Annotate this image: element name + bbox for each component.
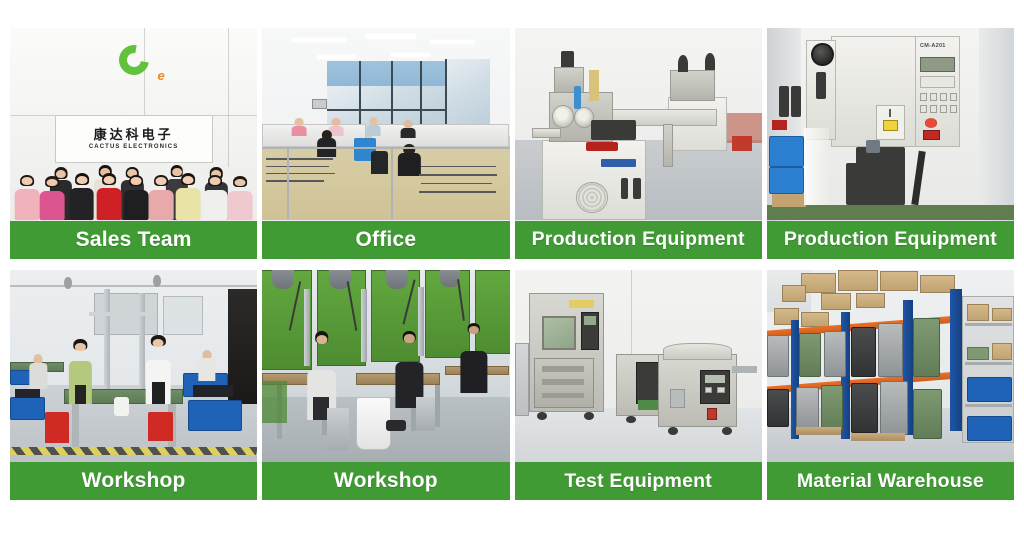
person <box>228 175 253 220</box>
facility-gallery-grid: e 康达科电子 CACTUS ELECTRONICS <box>10 28 1014 500</box>
person <box>30 354 47 389</box>
cabinet-slot <box>621 178 628 199</box>
rail-post <box>391 147 393 220</box>
carton-box <box>821 293 851 310</box>
frame-crossbar <box>89 312 153 316</box>
carton-box <box>967 304 989 321</box>
tool <box>791 86 801 117</box>
door-louver <box>542 366 584 372</box>
person <box>203 174 228 221</box>
carton-box <box>782 285 807 302</box>
photo-workshop-2 <box>262 270 509 463</box>
metal-stool <box>416 397 436 432</box>
caption-workshop-2: Workshop <box>262 462 509 500</box>
controller-display <box>920 57 955 72</box>
cutting-head <box>591 120 636 139</box>
gallery-cell-production-equipment-1[interactable]: Production Equipment <box>515 28 762 259</box>
gallery-cell-production-equipment-2[interactable]: CM-A201 <box>767 28 1014 259</box>
person <box>146 335 171 404</box>
blue-bin <box>10 397 45 420</box>
controller-readout <box>920 76 955 88</box>
tester-button[interactable] <box>717 387 724 393</box>
ceiling-light <box>292 38 346 43</box>
photo-sales-team: e 康达科电子 CACTUS ELECTRONICS <box>10 28 257 221</box>
machine-base <box>262 381 287 423</box>
caster-wheel <box>668 427 678 435</box>
chamber-display <box>584 316 596 326</box>
person <box>15 174 40 221</box>
clamp <box>866 140 881 153</box>
warning-plate <box>876 105 906 140</box>
caster-wheel <box>584 412 594 420</box>
blue-bottle <box>574 86 581 109</box>
person <box>198 350 215 381</box>
wire-reel-stack <box>913 318 940 378</box>
cactus-logo-icon: e <box>119 45 163 85</box>
feed-rail <box>532 128 562 138</box>
controller-button[interactable] <box>950 105 957 113</box>
carton-box <box>838 270 878 291</box>
photo-material-warehouse <box>767 270 1014 463</box>
photo-office <box>262 28 509 221</box>
railing <box>262 147 509 149</box>
person <box>69 172 94 220</box>
spool <box>589 70 599 101</box>
wire-reel-stack <box>824 331 846 377</box>
wire-reel-stack <box>880 381 907 435</box>
tool <box>779 86 789 117</box>
floor-hazard-line <box>10 447 257 455</box>
red-stool <box>45 412 70 443</box>
parts-on-floor <box>386 420 406 432</box>
handle <box>816 72 826 99</box>
person <box>148 174 173 221</box>
gallery-cell-workshop-1[interactable]: Workshop <box>10 270 257 501</box>
green-box <box>967 347 989 360</box>
frame-post <box>139 293 145 401</box>
pressure-gauge-icon <box>811 43 833 66</box>
controller-button[interactable] <box>930 105 937 113</box>
side-wall-right <box>979 28 1014 221</box>
brand-label <box>601 159 636 167</box>
conveyor-leg <box>663 124 673 166</box>
person <box>292 118 307 135</box>
ceiling-light <box>317 55 357 59</box>
logo-letter-e: e <box>158 68 165 83</box>
floor-mat <box>767 205 1014 220</box>
wire-reel-stack <box>796 387 818 429</box>
carton-box <box>856 293 886 308</box>
person <box>176 172 201 220</box>
photo-workshop-1 <box>10 270 257 463</box>
machine-column <box>361 289 367 362</box>
wire-reel-stack <box>913 389 943 439</box>
photo-production-equipment-2: CM-A201 <box>767 28 1014 221</box>
rack-upright <box>950 289 962 431</box>
caption-test-equipment: Test Equipment <box>515 462 762 500</box>
shelf-level <box>965 323 1012 326</box>
tester-power-indicator <box>707 408 717 420</box>
controller-button[interactable] <box>940 93 947 101</box>
blue-crate <box>769 136 804 167</box>
gallery-cell-office[interactable]: Office <box>262 28 509 259</box>
ceiling-rail <box>10 285 257 287</box>
blue-tote <box>967 377 1012 402</box>
pallet <box>851 433 905 441</box>
wire-reel-stack <box>767 335 789 377</box>
staff-group <box>10 147 257 220</box>
ceiling-light <box>366 34 415 39</box>
pallet <box>796 427 841 435</box>
ceiling-fan <box>64 277 71 289</box>
vent-grille <box>576 182 608 213</box>
cubicle-partition <box>262 124 366 147</box>
hopper <box>386 270 408 289</box>
tester-display <box>705 375 725 383</box>
parts-pile <box>193 385 233 397</box>
person <box>460 323 487 392</box>
wire-reel-stack <box>799 333 821 377</box>
door-louver <box>542 379 584 385</box>
ceiling-light <box>430 40 475 45</box>
ceiling-fan <box>153 275 160 287</box>
person <box>401 120 416 137</box>
metal-stool <box>327 408 349 450</box>
ceiling-light <box>391 53 431 57</box>
table-leg <box>435 385 440 427</box>
gallery-cell-material-warehouse[interactable]: Material Warehouse <box>767 270 1014 501</box>
person <box>97 172 122 220</box>
wall-seam-right <box>228 28 230 167</box>
white-container <box>114 397 129 416</box>
pallet <box>772 194 807 207</box>
window-transom <box>327 109 446 111</box>
gallery-cell-workshop-2[interactable]: Workshop <box>262 270 509 501</box>
carton-box <box>992 343 1012 360</box>
caption-production-equipment-2: Production Equipment <box>767 221 1014 259</box>
desk-slats <box>416 163 505 202</box>
wire-reel-stack <box>767 389 789 428</box>
tester-access-panel <box>670 389 685 408</box>
person <box>366 117 381 136</box>
controller-button[interactable] <box>950 93 957 101</box>
red-stool <box>732 136 752 151</box>
gallery-cell-sales-team[interactable]: e 康达科电子 CACTUS ELECTRONICS <box>10 28 257 259</box>
person <box>317 130 337 157</box>
cubicle-partition <box>371 124 509 147</box>
photo-test-equipment <box>515 270 762 463</box>
caption-production-equipment-1: Production Equipment <box>515 221 762 259</box>
cabinet-slot <box>633 178 640 199</box>
wall-monitor <box>312 99 327 109</box>
caster-wheel <box>537 412 547 420</box>
background-window <box>163 296 203 335</box>
carton-box <box>801 273 836 292</box>
bench-leg <box>72 404 79 450</box>
rail-post <box>287 147 289 220</box>
plastic-sheet <box>804 128 829 205</box>
side-cabinet <box>515 343 530 416</box>
carton-box <box>801 312 828 327</box>
red-part <box>772 120 787 130</box>
background-machine-head <box>670 70 715 101</box>
power-switch[interactable] <box>923 130 940 140</box>
blue-crate <box>769 167 804 194</box>
frame-post <box>104 289 110 405</box>
controller-button[interactable] <box>920 105 927 113</box>
parts-pile <box>15 389 40 399</box>
tester-lid <box>663 343 732 360</box>
person <box>69 339 91 404</box>
spool-arm <box>678 55 688 72</box>
hopper <box>272 270 294 289</box>
spool-arm <box>705 53 715 70</box>
chamber-window <box>542 316 577 351</box>
die-tooling <box>846 163 866 205</box>
machine-open-frame <box>636 362 661 404</box>
shelf-level <box>965 362 1012 365</box>
sign-chinese-text: 康达科电子 <box>94 128 174 141</box>
desk-slats <box>262 155 346 186</box>
controller-button[interactable] <box>930 93 937 101</box>
shelf-level <box>965 404 1012 407</box>
carton-box <box>992 308 1012 321</box>
door-louver <box>542 393 584 399</box>
caption-material-warehouse: Material Warehouse <box>767 462 1014 500</box>
office-chair <box>371 151 388 174</box>
photo-production-equipment-1 <box>515 28 762 221</box>
caster-wheel <box>626 416 636 424</box>
caption-office: Office <box>262 221 509 259</box>
chamber-sticker <box>569 300 594 308</box>
controller-button[interactable] <box>940 105 947 113</box>
blue-bin <box>188 400 242 431</box>
wire-reel-stack <box>851 327 876 377</box>
caption-sales-team: Sales Team <box>10 221 257 259</box>
carton-box <box>880 271 917 290</box>
wire-reel-stack <box>851 383 878 433</box>
controller-button[interactable] <box>920 93 927 101</box>
person <box>40 175 65 220</box>
caption-workshop-1: Workshop <box>10 462 257 500</box>
wire-reel-stack <box>821 385 843 431</box>
blue-tote <box>967 416 1012 441</box>
wire-reel-stack <box>878 323 903 377</box>
controller-model-label: CM-A201 <box>920 43 955 53</box>
red-stool <box>148 412 173 441</box>
gallery-cell-test-equipment[interactable]: Test Equipment <box>515 270 762 501</box>
feed-wheel <box>552 105 574 128</box>
red-control-strip <box>586 142 618 152</box>
side-rail <box>732 366 757 374</box>
tester-button[interactable] <box>705 387 712 393</box>
person <box>124 174 149 221</box>
person <box>307 331 337 420</box>
